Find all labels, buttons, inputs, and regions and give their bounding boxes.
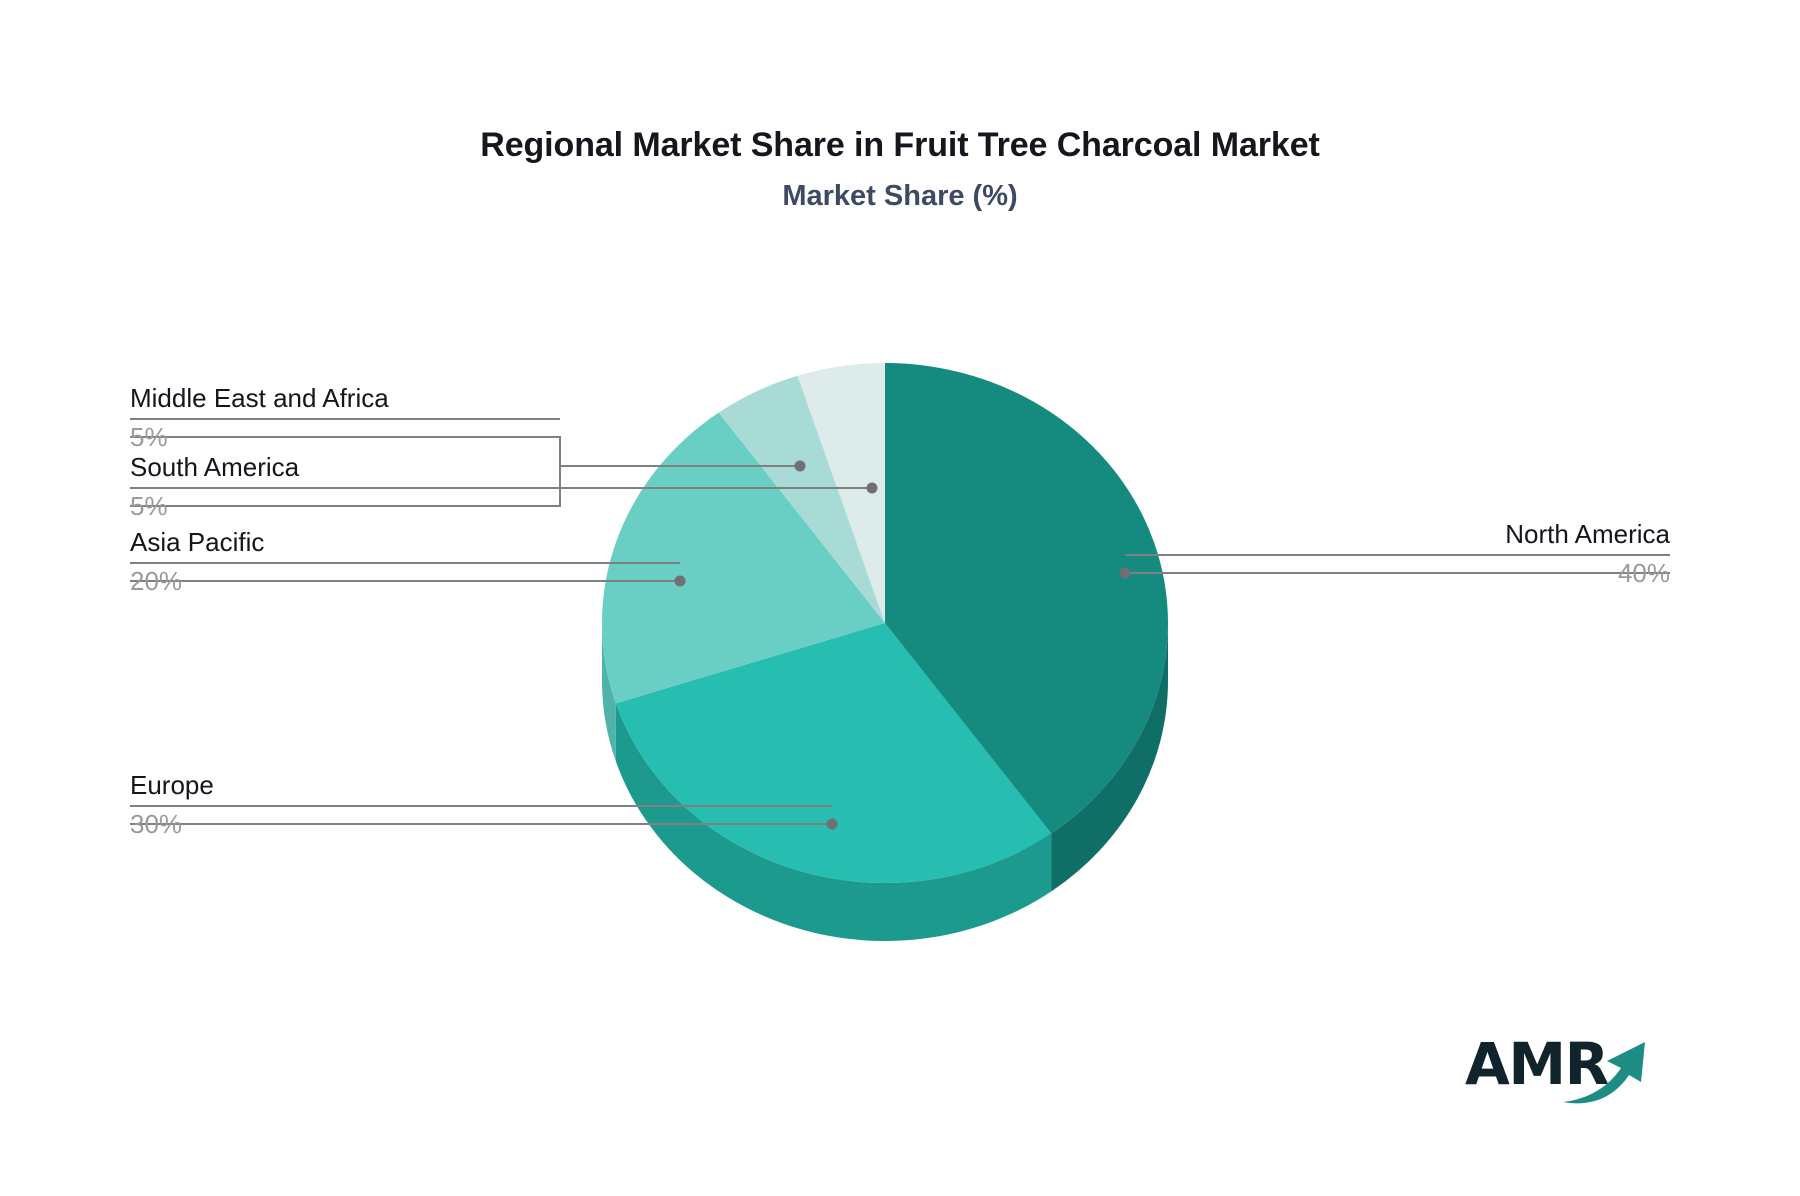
callout-label-south-america: South America xyxy=(130,454,560,481)
callout-label-north-america: North America xyxy=(1125,521,1670,548)
callout-value-south-america: 5% xyxy=(130,493,560,520)
callout-rule-asia-pacific xyxy=(130,562,680,564)
callout-rule-south-america xyxy=(130,487,560,489)
chart-subtitle: Market Share (%) xyxy=(0,180,1800,213)
callout-value-north-america: 40% xyxy=(1125,560,1670,587)
callout-label-middle-east-and-africa: Middle East and Africa xyxy=(130,385,560,412)
pie-chart xyxy=(560,355,1210,965)
callout-label-europe: Europe xyxy=(130,772,832,799)
callout-rule-north-america xyxy=(1125,554,1670,556)
callout-south-america: South America 5% xyxy=(130,454,560,521)
callout-value-europe: 30% xyxy=(130,811,832,838)
callout-asia-pacific: Asia Pacific 20% xyxy=(130,529,680,596)
arrow-up-right-icon xyxy=(1561,1034,1653,1106)
callout-label-asia-pacific: Asia Pacific xyxy=(130,529,680,556)
callout-north-america: North America 40% xyxy=(1125,521,1670,588)
callout-middle-east-and-africa: Middle East and Africa 5% xyxy=(130,385,560,452)
chart-canvas: Regional Market Share in Fruit Tree Char… xyxy=(0,0,1800,1196)
callout-value-asia-pacific: 20% xyxy=(130,568,680,595)
callout-value-middle-east-and-africa: 5% xyxy=(130,424,560,451)
callout-europe: Europe 30% xyxy=(130,772,832,839)
callout-rule-middle-east-and-africa xyxy=(130,418,560,420)
pie-svg xyxy=(560,355,1210,965)
callout-rule-europe xyxy=(130,805,832,807)
chart-title: Regional Market Share in Fruit Tree Char… xyxy=(0,126,1800,165)
amr-logo: AMR xyxy=(1465,1028,1655,1106)
